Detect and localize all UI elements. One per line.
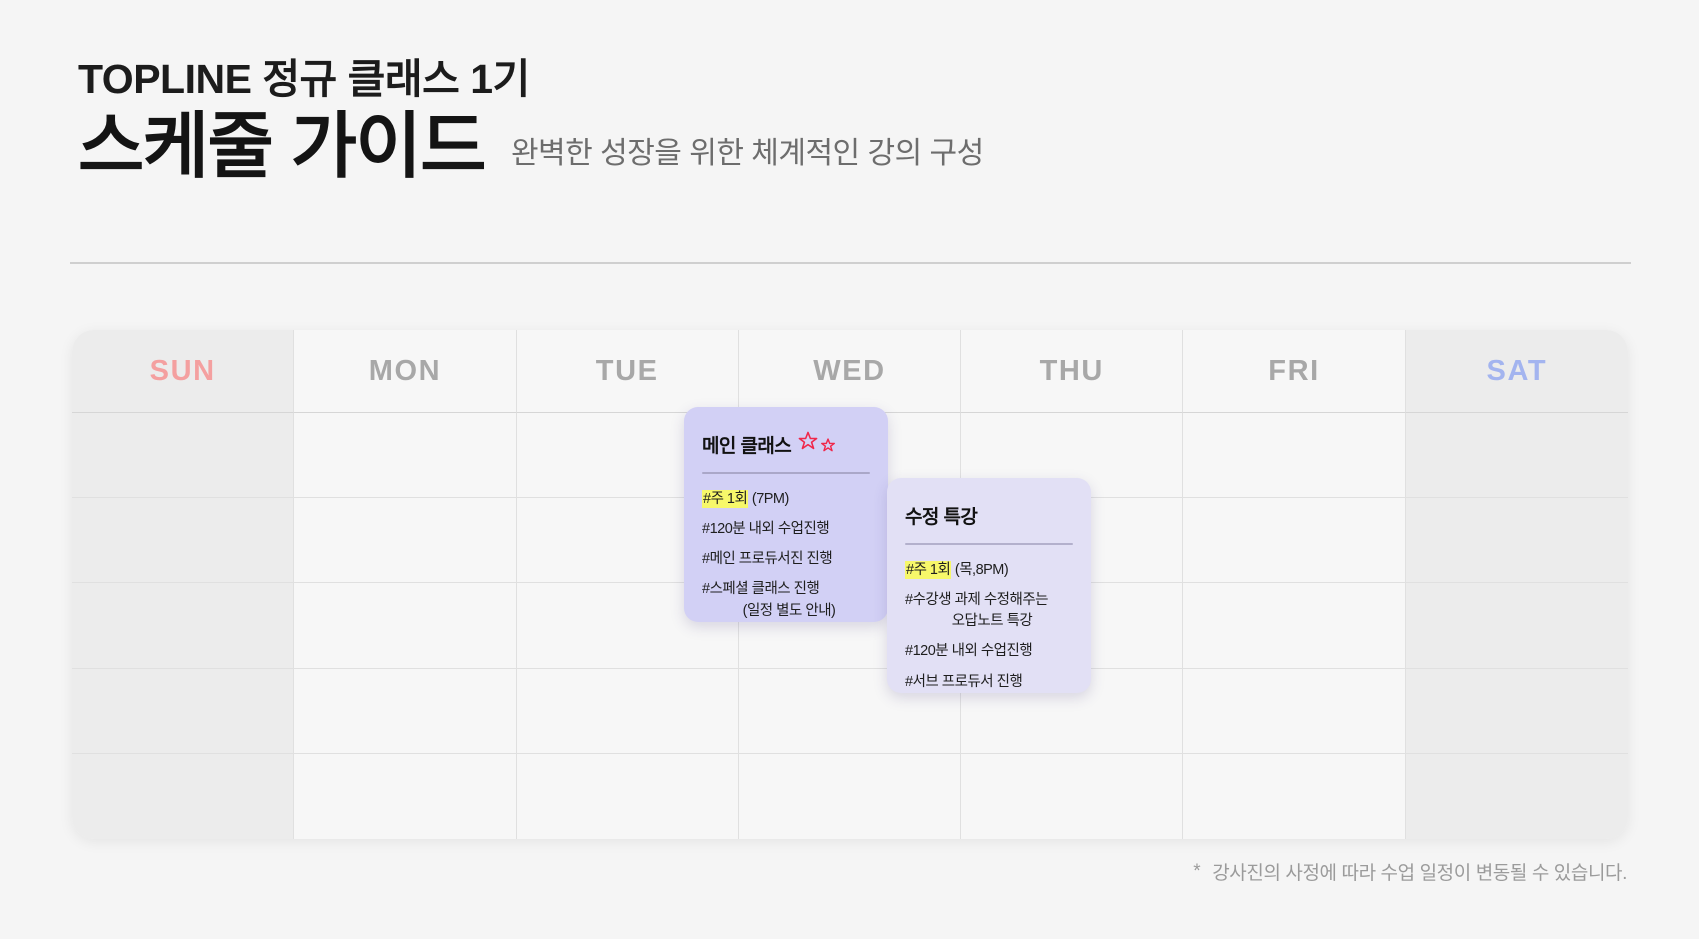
detail-text: #120분 내외 수업진행 (702, 521, 829, 537)
highlighted-text: #주 1회 (905, 561, 951, 579)
detail-text: (7PM) (748, 491, 789, 507)
calendar-cell-sat-5[interactable] (1406, 754, 1628, 839)
event-detail-line: (일정 별도 안내) (702, 602, 870, 621)
detail-text: #스페셜 클래스 진행 (702, 581, 819, 597)
event-detail-line: #수강생 과제 수정해주는 (905, 591, 1073, 610)
detail-text: #수강생 과제 수정해주는 (905, 592, 1048, 608)
calendar-cell-tue-4[interactable] (517, 669, 739, 754)
footnote-marker: * (1193, 861, 1200, 883)
detail-text: (일정 별도 안내) (743, 603, 836, 619)
eyebrow-title: TOPLINE 정규 클래스 1기 (78, 56, 1638, 103)
event-detail-line: #120분 내외 수업진행 (702, 520, 870, 539)
event-card-body-special: #주 1회 (목,8PM)#수강생 과제 수정해주는오답노트 특강#120분 내… (903, 561, 1075, 692)
day-header-wed: WED (739, 330, 961, 413)
calendar-cell-sun-4[interactable] (72, 669, 294, 754)
calendar-cell-mon-5[interactable] (294, 754, 516, 839)
event-card-title-row: 메인 클래스 (700, 425, 872, 458)
event-card-body-main: #주 1회 (7PM)#120분 내외 수업진행#메인 프로듀서진 진행#스페셜… (700, 490, 872, 621)
calendar-cell-sat-4[interactable] (1406, 669, 1628, 754)
page-header: TOPLINE 정규 클래스 1기 스케줄 가이드 완벽한 성장을 위한 체계적… (78, 56, 1638, 188)
calendar-cell-sun-2[interactable] (72, 498, 294, 583)
calendar-cell-fri-3[interactable] (1183, 583, 1405, 668)
detail-text: 오답노트 특강 (952, 613, 1033, 629)
event-detail-line: #스페셜 클래스 진행 (702, 580, 870, 599)
event-card-title-row: 수정 특강 (903, 496, 1075, 529)
event-card-divider (702, 472, 870, 474)
event-detail-line: #주 1회 (7PM) (702, 490, 870, 509)
event-title-text: 메인 클래스 (702, 431, 791, 458)
detail-text: #서브 프로듀서 진행 (905, 674, 1022, 690)
day-header-mon: MON (294, 330, 516, 413)
footnote: * 강사진의 사정에 따라 수업 일정이 변동될 수 있습니다. (1193, 858, 1627, 885)
calendar-cell-sat-2[interactable] (1406, 498, 1628, 583)
calendar-cell-tue-5[interactable] (517, 754, 739, 839)
calendar-cell-mon-4[interactable] (294, 669, 516, 754)
calendar-cell-sun-1[interactable] (72, 413, 294, 498)
calendar-cell-mon-1[interactable] (294, 413, 516, 498)
footnote-text: 강사진의 사정에 따라 수업 일정이 변동될 수 있습니다. (1212, 858, 1627, 885)
day-header-thu: THU (961, 330, 1183, 413)
day-header-tue: TUE (517, 330, 739, 413)
detail-text: (목,8PM) (951, 562, 1008, 578)
schedule-guide-page: TOPLINE 정규 클래스 1기 스케줄 가이드 완벽한 성장을 위한 체계적… (0, 0, 1699, 939)
highlighted-text: #주 1회 (702, 490, 748, 508)
detail-text: #메인 프로듀서진 진행 (702, 551, 832, 567)
calendar-cell-sun-5[interactable] (72, 754, 294, 839)
event-detail-line: #주 1회 (목,8PM) (905, 561, 1073, 580)
calendar-cell-sat-3[interactable] (1406, 583, 1628, 668)
calendar-cell-fri-5[interactable] (1183, 754, 1405, 839)
day-header-sun: SUN (72, 330, 294, 413)
calendar-cell-sun-3[interactable] (72, 583, 294, 668)
title-row: 스케줄 가이드 완벽한 성장을 위한 체계적인 강의 구성 (78, 107, 1638, 188)
event-detail-line: #120분 내외 수업진행 (905, 642, 1073, 661)
page-subtitle: 완벽한 성장을 위한 체계적인 강의 구성 (511, 128, 984, 172)
event-detail-line: #메인 프로듀서진 진행 (702, 550, 870, 569)
calendar-cell-mon-2[interactable] (294, 498, 516, 583)
calendar-cell-fri-4[interactable] (1183, 669, 1405, 754)
calendar-cell-mon-3[interactable] (294, 583, 516, 668)
event-card-special-lecture[interactable]: 수정 특강 #주 1회 (목,8PM)#수강생 과제 수정해주는오답노트 특강#… (887, 478, 1091, 693)
day-header-fri: FRI (1183, 330, 1405, 413)
day-header-sat: SAT (1406, 330, 1628, 413)
event-detail-line: #서브 프로듀서 진행 (905, 673, 1073, 692)
page-title: 스케줄 가이드 (78, 107, 485, 188)
calendar-cell-thu-5[interactable] (961, 754, 1183, 839)
calendar-cell-fri-2[interactable] (1183, 498, 1405, 583)
event-card-main-class[interactable]: 메인 클래스 #주 1회 (7PM)#120분 내외 수업진행#메인 프로듀서진… (684, 407, 888, 622)
event-detail-line: 오답노트 특강 (905, 612, 1073, 631)
calendar-cell-wed-5[interactable] (739, 754, 961, 839)
header-divider (70, 262, 1631, 264)
calendar-cell-sat-1[interactable] (1406, 413, 1628, 498)
event-title-text: 수정 특강 (905, 502, 977, 529)
event-card-divider (905, 543, 1073, 545)
sparkle-stars-icon (797, 431, 836, 453)
calendar-cell-fri-1[interactable] (1183, 413, 1405, 498)
detail-text: #120분 내외 수업진행 (905, 643, 1032, 659)
